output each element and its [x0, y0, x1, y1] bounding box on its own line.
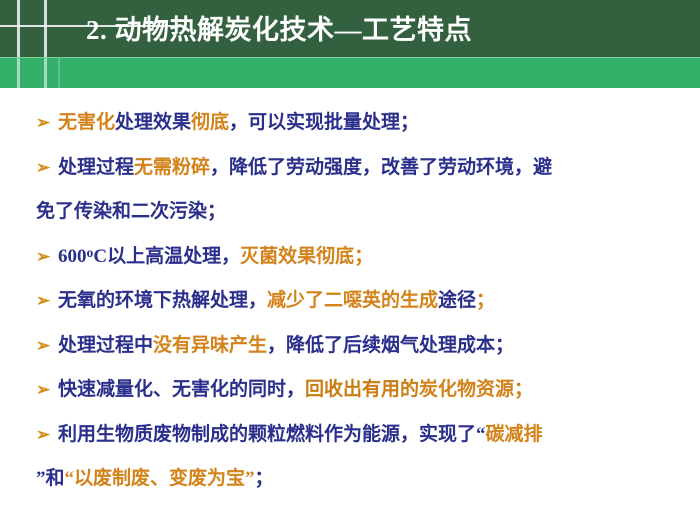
- bullet-1-segment-1: 无害化: [58, 112, 115, 133]
- bullet-7-continuation-segment-3: “以废制废、变废为宝”: [65, 468, 255, 489]
- slide-header: 2. 动物热解炭化技术—工艺特点: [0, 0, 700, 88]
- bullet-1-segment-2: 处理效果: [115, 112, 191, 133]
- header-accent-band: [0, 57, 700, 88]
- bullet-7-continuation: ”和“以废制废、变废为宝”；: [36, 462, 692, 495]
- bullet-5-segment-3: ，降低了后续烟气处理成本；: [267, 335, 514, 356]
- bullet-list: ➢无害化处理效果彻底，可以实现批量处理；➢处理过程无需粉碎，降低了劳动强度，改善…: [0, 96, 700, 495]
- band-grid-line-3: [58, 58, 60, 88]
- bullet-7-segment-1: 利用生物质废物制成的颗粒燃料作为能源，实现了“: [58, 424, 486, 445]
- bullet-arrow-icon: ➢: [36, 329, 56, 362]
- page-title: 2. 动物热解炭化技术—工艺特点: [86, 8, 686, 52]
- bullet-4-segment-4: ；: [476, 290, 495, 311]
- bullet-7-continuation-segment-2: 和: [46, 468, 65, 489]
- bullet-3-segment-4: 灭菌效果彻底: [240, 246, 354, 267]
- bullet-1-segment-4: ，可以实现批量处理；: [229, 112, 419, 133]
- bullet-4-segment-2: 减少了二噁英的生成: [267, 290, 438, 311]
- bullet-arrow-icon: ➢: [36, 373, 56, 406]
- bullet-5-segment-1: 处理过程中: [58, 335, 153, 356]
- bullet-6-segment-3: 炭化物资源；: [419, 379, 533, 400]
- bullet-6-segment-2: 回收出有用的: [305, 379, 419, 400]
- bullet-7-continuation-segment-4: ；: [255, 468, 274, 489]
- bullet-2-continuation-segment-1: 免了传染和二次污染；: [36, 201, 226, 222]
- bullet-1-segment-3: 彻底: [191, 112, 229, 133]
- bullet-6-segment-1: 快速减量化、无害化的同时，: [58, 379, 305, 400]
- bullet-2-continuation: 免了传染和二次污染；: [36, 195, 692, 228]
- band-grid-line-2: [44, 58, 47, 88]
- bullet-3-segment-1: 600: [58, 246, 87, 267]
- bullet-4-segment-1: 无氧的环境下热解处理，: [58, 290, 267, 311]
- bullet-arrow-icon: ➢: [36, 418, 56, 451]
- bullet-4: ➢无氧的环境下热解处理，减少了二噁英的生成途径；: [36, 284, 692, 317]
- bullet-3-segment-3: C以上高温处理，: [93, 246, 240, 267]
- bullet-2: ➢处理过程无需粉碎，降低了劳动强度，改善了劳动环境，避: [36, 151, 692, 184]
- bullet-5: ➢处理过程中没有异味产生，降低了后续烟气处理成本；: [36, 329, 692, 362]
- bullet-3-segment-5: ；: [354, 246, 373, 267]
- bullet-2-segment-3: ，降低了劳动强度，改善了劳动环境，避: [210, 157, 552, 178]
- bullet-1: ➢无害化处理效果彻底，可以实现批量处理；: [36, 106, 692, 139]
- bullet-arrow-icon: ➢: [36, 106, 56, 139]
- bullet-arrow-icon: ➢: [36, 284, 56, 317]
- bullet-2-segment-2: 无需粉碎: [134, 157, 210, 178]
- bullet-5-segment-2: 没有异味产生: [153, 335, 267, 356]
- bullet-7-segment-2: 碳减排: [486, 424, 543, 445]
- slide-body: ➢无害化处理效果彻底，可以实现批量处理；➢处理过程无需粉碎，降低了劳动强度，改善…: [0, 96, 700, 523]
- bullet-7: ➢利用生物质废物制成的颗粒燃料作为能源，实现了“碳减排: [36, 418, 692, 451]
- bullet-arrow-icon: ➢: [36, 151, 56, 184]
- bullet-3: ➢600oC以上高温处理，灭菌效果彻底；: [36, 240, 692, 273]
- bullet-6: ➢快速减量化、无害化的同时，回收出有用的炭化物资源；: [36, 373, 692, 406]
- bullet-7-continuation-segment-1: ”: [36, 468, 46, 489]
- bullet-4-segment-3: 途径: [438, 290, 476, 311]
- bullet-2-segment-1: 处理过程: [58, 157, 134, 178]
- band-grid-line-1: [17, 58, 20, 88]
- slide: 2. 动物热解炭化技术—工艺特点 ➢无害化处理效果彻底，可以实现批量处理；➢处理…: [0, 0, 700, 523]
- bullet-arrow-icon: ➢: [36, 240, 56, 273]
